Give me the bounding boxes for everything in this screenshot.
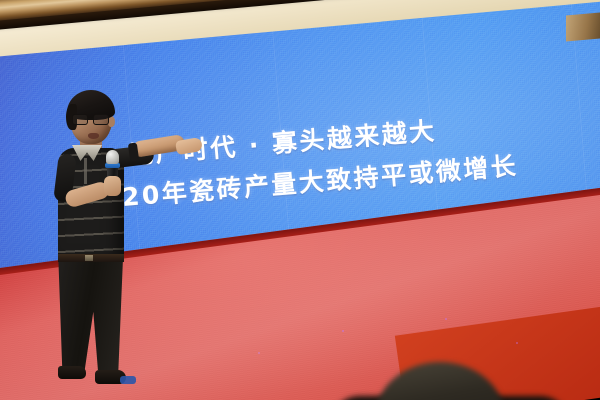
stage-speck [342,330,344,332]
speaker-shoe-left [58,366,86,379]
stage-speck [258,352,260,354]
stage-speck [516,342,518,344]
speaker-mouth [88,133,99,139]
speaker-shoe-highlight [120,376,136,384]
speaker-belt-buckle [85,255,93,261]
shirt-placket [84,158,87,184]
stage-speck [445,318,447,320]
microphone-head [106,150,119,164]
wood-column-right [566,13,600,42]
glasses-lens-left [72,114,88,125]
glasses-icon [72,114,112,125]
glasses-lens-right [93,114,109,125]
speaker-mic-hand [104,176,121,196]
presentation-photo: 地产时代 · 寡头越来越大 20年瓷砖产量大致持平或微增长 [0,0,600,400]
